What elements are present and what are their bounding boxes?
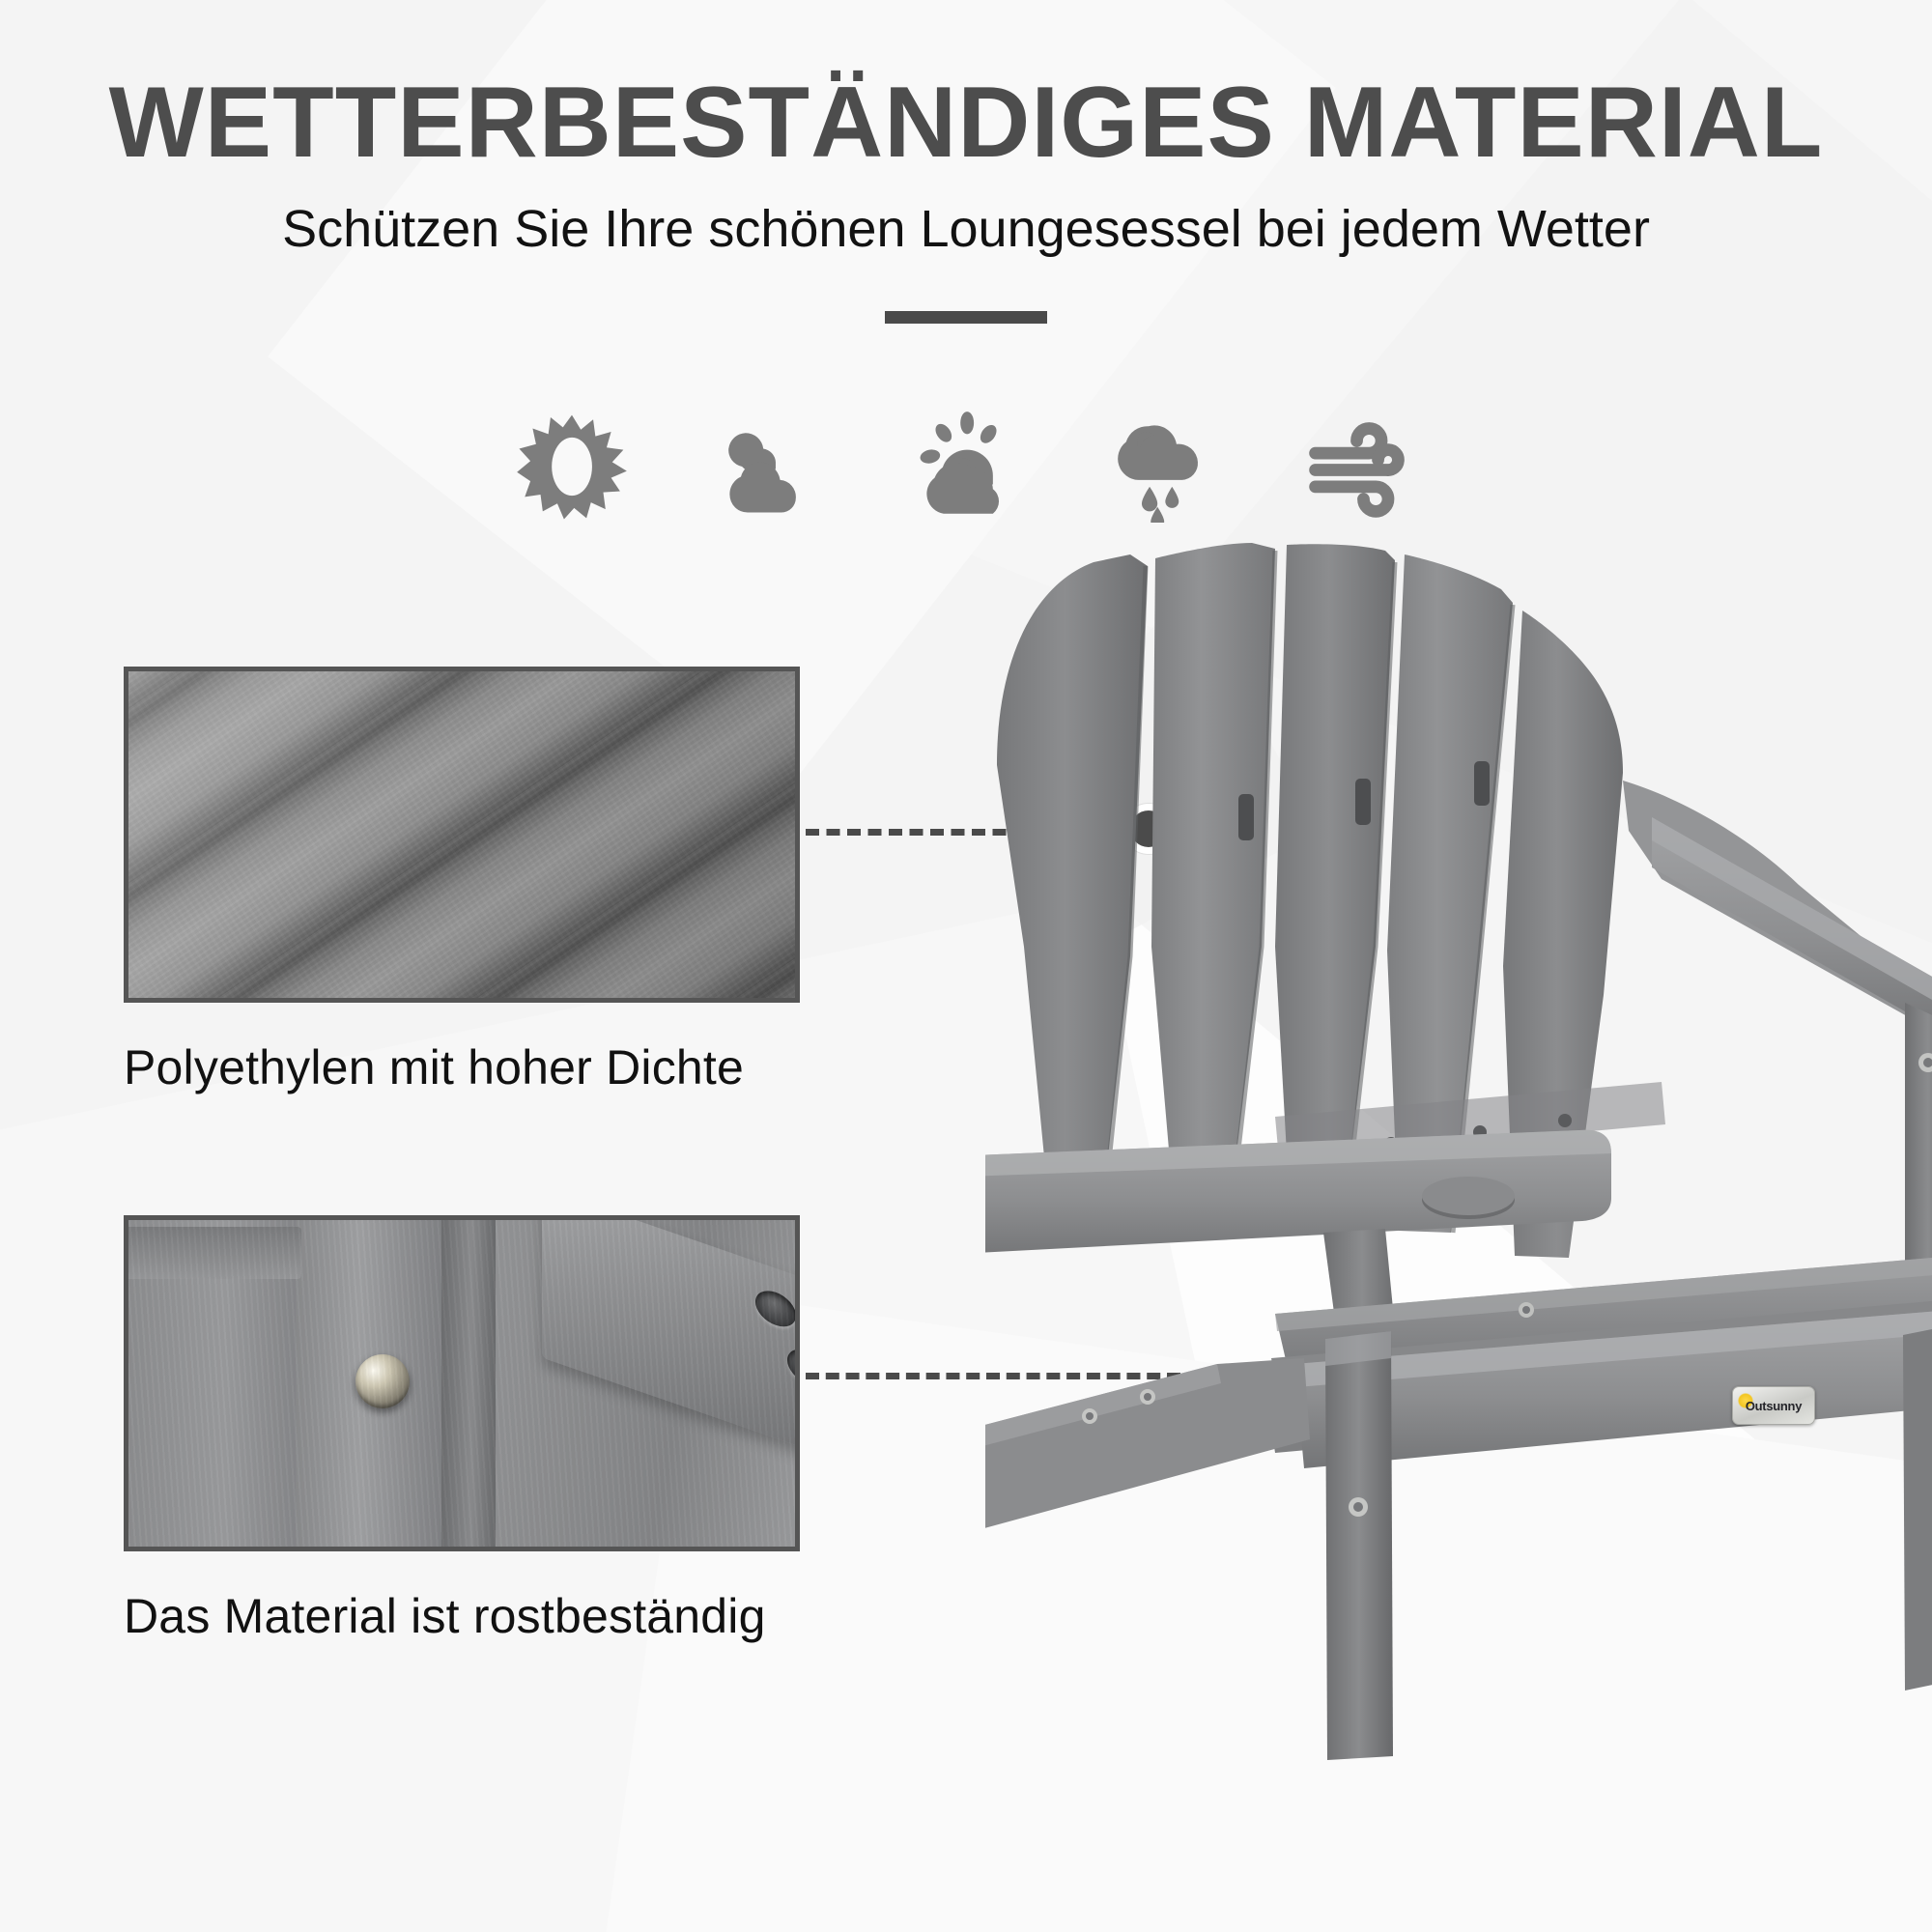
cloudy-icon bbox=[713, 411, 825, 523]
hdpe-sheen-overlay bbox=[128, 671, 795, 998]
page-title: WETTERBESTÄNDIGES MATERIAL bbox=[0, 70, 1932, 176]
brand-badge-text: Outsunny bbox=[1746, 1399, 1802, 1413]
brand-badge-outsunny: Outsunny bbox=[1732, 1386, 1815, 1425]
detail-card-rust: Das Material ist rostbeständig bbox=[124, 1215, 800, 1644]
rust-grain-overlay bbox=[128, 1220, 795, 1547]
detail-photo-rust bbox=[124, 1215, 800, 1551]
page-subtitle: Schützen Sie Ihre schönen Loungesessel b… bbox=[0, 201, 1932, 258]
header-block: WETTERBESTÄNDIGES MATERIAL Schützen Sie … bbox=[0, 70, 1932, 324]
detail-photo-hdpe bbox=[124, 667, 800, 1003]
detail-card-hdpe: Polyethylen mit hoher Dichte bbox=[124, 667, 800, 1095]
chair-stretcher bbox=[985, 1358, 1310, 1536]
title-divider bbox=[885, 311, 1047, 324]
detail-caption-rust: Das Material ist rostbeständig bbox=[124, 1588, 800, 1644]
weather-icon-row bbox=[0, 411, 1932, 523]
detail-caption-hdpe: Polyethylen mit hoher Dichte bbox=[124, 1039, 800, 1095]
partly-cloudy-icon bbox=[910, 411, 1022, 523]
chair-leg-rear-right bbox=[1903, 1325, 1932, 1690]
rain-cloud-icon bbox=[1107, 411, 1219, 523]
product-image-adirondack-chair bbox=[985, 541, 1932, 1922]
chair-leg-front-left bbox=[1325, 1331, 1393, 1760]
wind-icon bbox=[1304, 411, 1416, 523]
sun-icon bbox=[516, 411, 628, 523]
rust-photo-base bbox=[128, 1220, 795, 1547]
